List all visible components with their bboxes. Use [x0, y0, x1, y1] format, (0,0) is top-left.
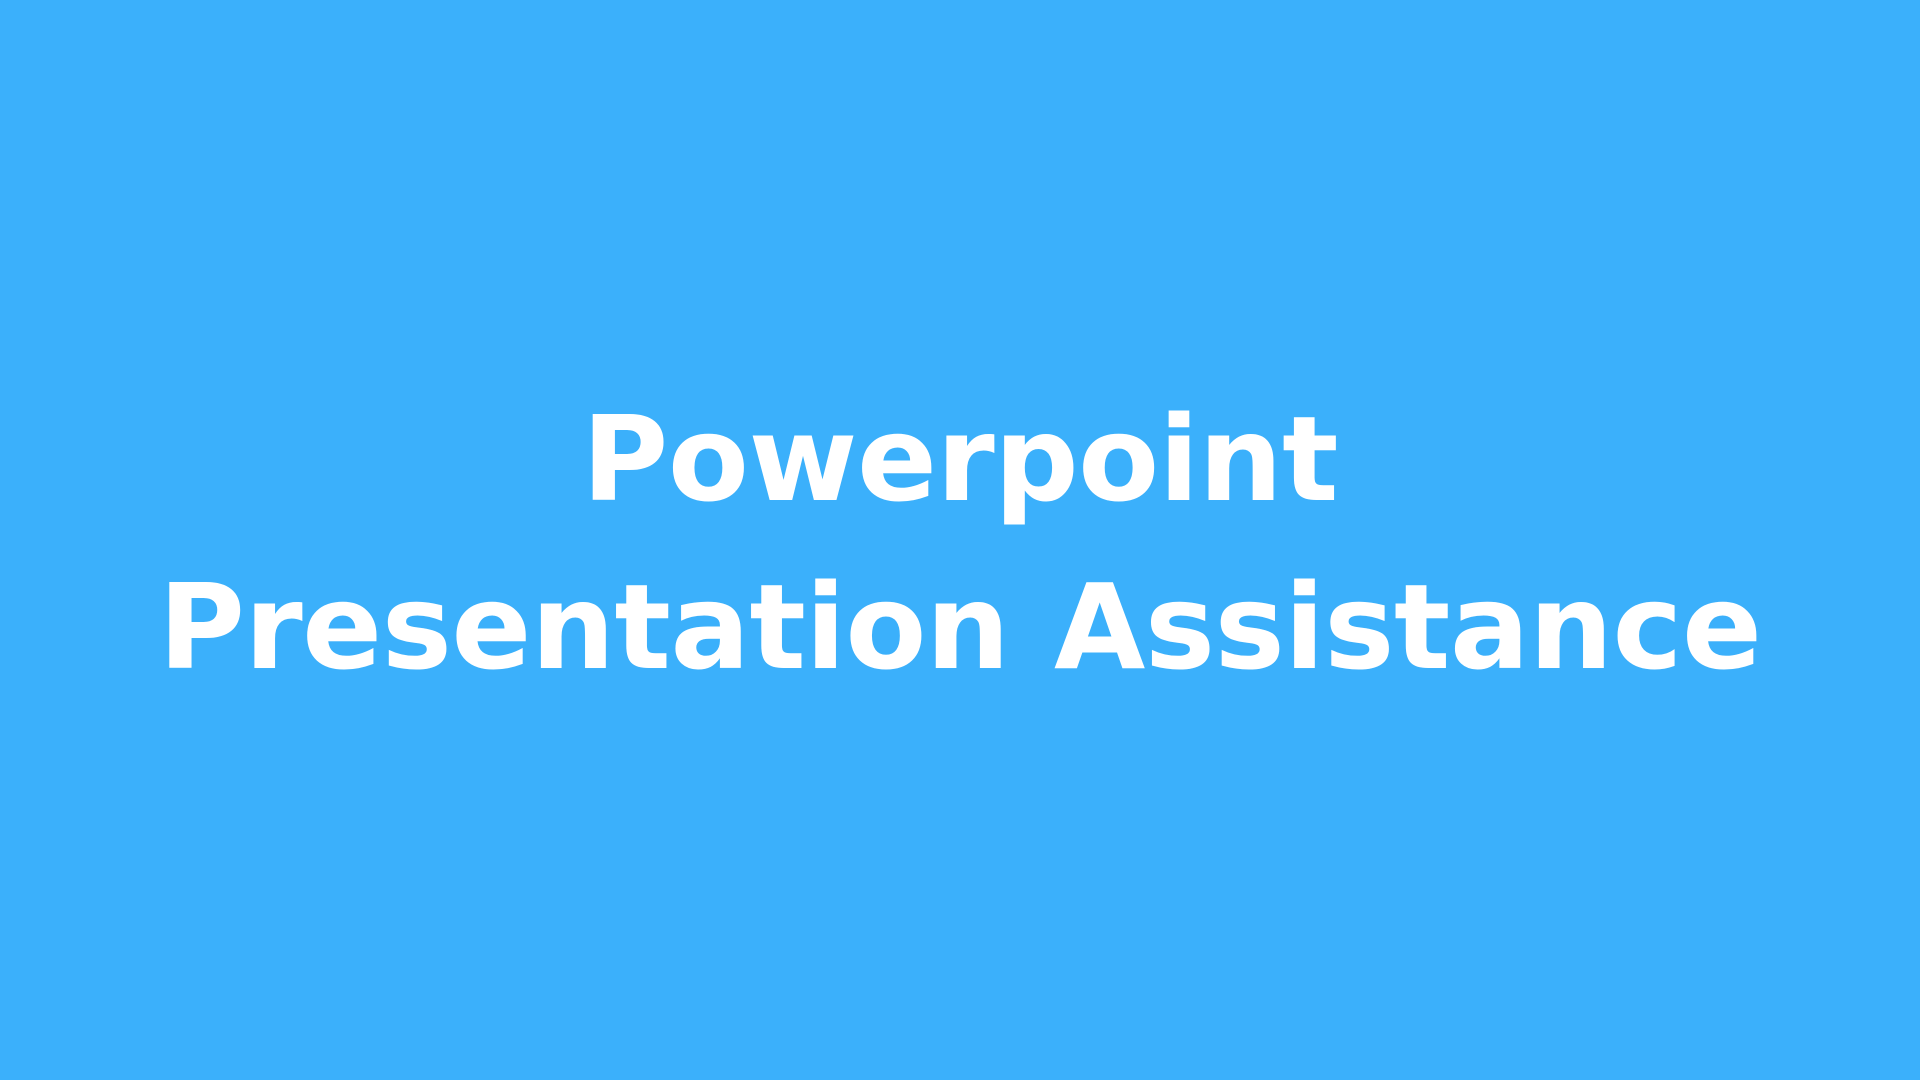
page-title: Powerpoint Presentation Assistance: [150, 375, 1770, 711]
presentation-slide: Powerpoint Presentation Assistance: [0, 0, 1920, 1080]
title-block: Powerpoint Presentation Assistance: [150, 375, 1770, 711]
